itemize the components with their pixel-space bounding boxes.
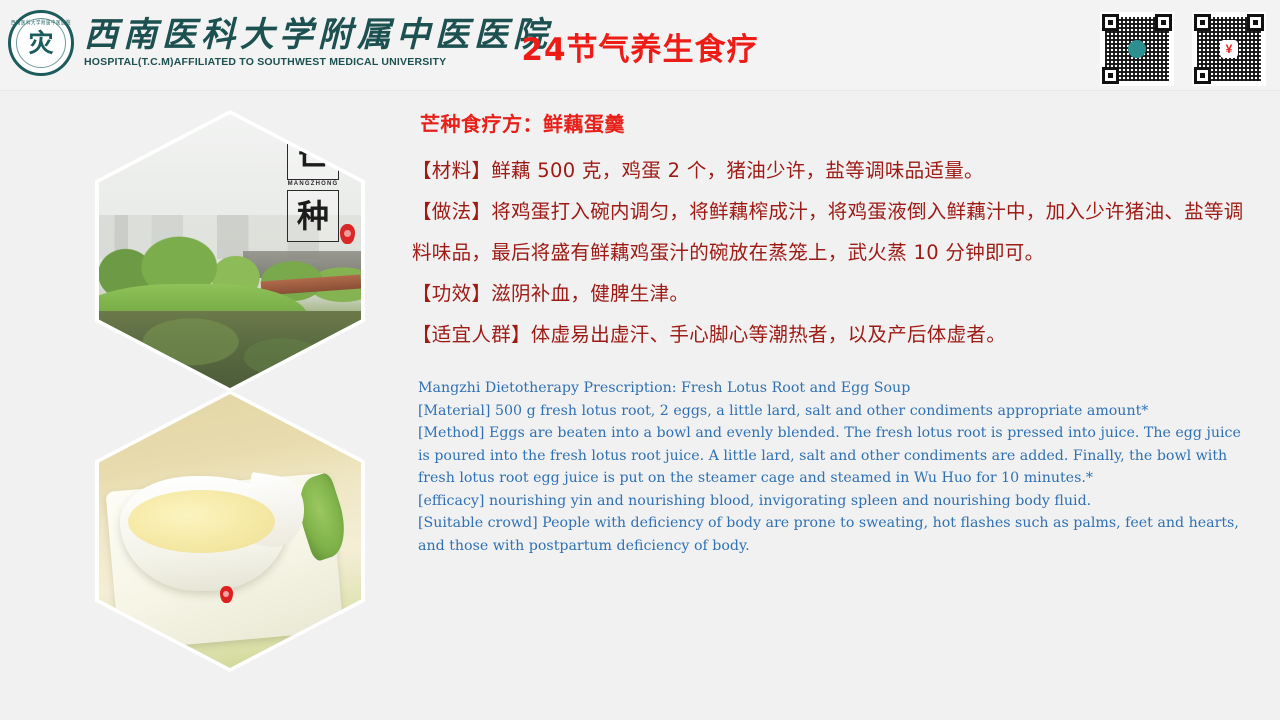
recipe-content: 芒种食疗方：鲜藕蛋羹 【材料】鲜藕 500 克，鸡蛋 2 个，猪油少许，盐等调味… [412, 108, 1254, 557]
calligraphy-pinyin: MANGZHONG [287, 181, 339, 187]
recipe-chinese-body: 【材料】鲜藕 500 克，鸡蛋 2 个，猪油少许，盐等调味品适量。 【做法】将鸡… [412, 150, 1254, 355]
wechat-logo-icon [1128, 40, 1146, 58]
recipe-efficacy-paragraph: 【功效】滋阴补血，健脾生津。 [412, 273, 1254, 314]
qr-finder-top-left-icon [1102, 14, 1119, 31]
qr-finder-top-right-icon [1247, 14, 1264, 31]
qr-finder-top-left-icon [1194, 14, 1211, 31]
recipe-method-paragraph: 【做法】将鸡蛋打入碗内调匀，将鲜藕榨成汁，将鸡蛋液倒入鲜藕汁中，加入少许猪油、盐… [412, 191, 1254, 273]
hex-image-column: 芒 MANGZHONG 种 [95, 110, 365, 670]
alipay-qr-icon[interactable]: ¥ [1192, 12, 1266, 86]
mangzhong-calligraphy: 芒 MANGZHONG 种 [287, 128, 339, 242]
food-egg-custard [128, 490, 275, 553]
page-title: 24节气养生食疗 [0, 24, 1280, 69]
english-suitable-crowd-line: [Suitable crowd] People with deficiency … [418, 512, 1248, 557]
calligraphy-char-mang: 芒 [287, 128, 339, 180]
recipe-english-body: Mangzhi Dietotherapy Prescription: Fresh… [418, 377, 1248, 557]
alipay-yuan-icon: ¥ [1220, 40, 1238, 58]
recipe-title: 芒种食疗方：鲜藕蛋羹 [420, 108, 1254, 137]
mangzhong-scenery-image: 芒 MANGZHONG 种 [95, 110, 365, 392]
english-material-line: [Material] 500 g fresh lotus root, 2 egg… [418, 400, 1248, 423]
qr-code-group: ¥ [1100, 12, 1266, 86]
recipe-material-paragraph: 【材料】鲜藕 500 克，鸡蛋 2 个，猪油少许，盐等调味品适量。 [412, 150, 1254, 191]
red-seal-icon [220, 586, 233, 603]
english-title-line: Mangzhi Dietotherapy Prescription: Fresh… [418, 377, 1248, 400]
qr-finder-bottom-left-icon [1102, 67, 1119, 84]
english-method-line: [Method] Eggs are beaten into a bowl and… [418, 422, 1248, 490]
recipe-suitable-crowd-paragraph: 【适宜人群】体虚易出虚汗、手心脚心等潮热者，以及产后体虚者。 [412, 314, 1254, 355]
wechat-qr-icon[interactable] [1100, 12, 1174, 86]
red-seal-icon [340, 224, 355, 244]
calligraphy-char-zhong: 种 [287, 190, 339, 242]
qr-finder-bottom-left-icon [1194, 67, 1211, 84]
egg-custard-dish-inner [99, 394, 361, 668]
english-efficacy-line: [efficacy] nourishing yin and nourishing… [418, 490, 1248, 513]
egg-custard-dish-image [95, 390, 365, 672]
mangzhong-scenery-inner: 芒 MANGZHONG 种 [99, 114, 361, 388]
page-header: 西南医科大学附属中医医院 灾 西南医科大学附属中医医院 HOSPITAL(T.C… [0, 0, 1280, 91]
scenery-water [99, 311, 361, 388]
qr-finder-top-right-icon [1155, 14, 1172, 31]
